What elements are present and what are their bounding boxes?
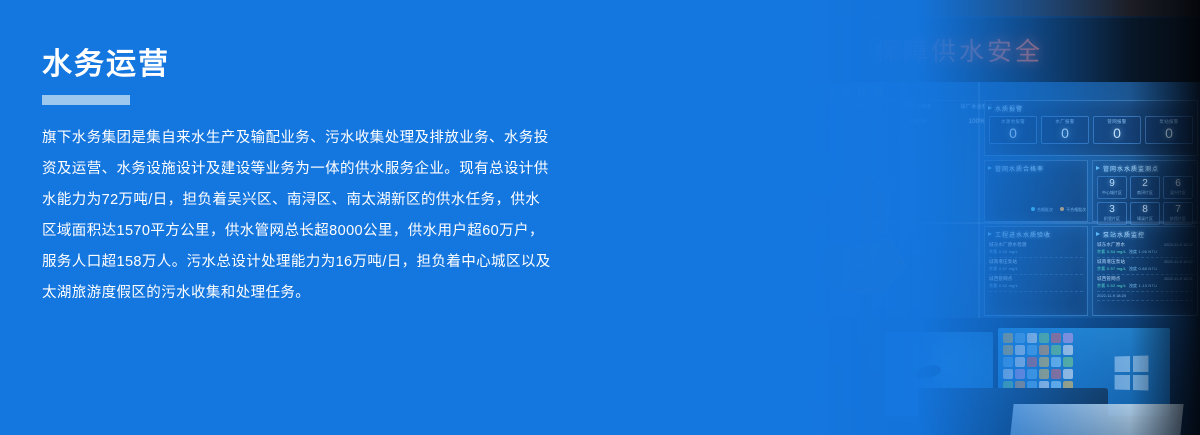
log-row: 城西管网点 余氯 0.52 mg/L (989, 275, 1083, 292)
map-label: 吴兴区 (722, 181, 734, 187)
district-map: 吴兴区 度假区 安吉县 南浔区 开发区 (590, 126, 920, 316)
kpi-item: 历史用水量（吨） (830, 104, 889, 116)
site-cell: 9 中心城片区 (1097, 176, 1127, 199)
map-label: 南浔区 (846, 209, 858, 215)
right-vignette (1130, 0, 1200, 435)
dashboard-title: 水质管理监控场景 (660, 84, 990, 100)
kpi-item: 今日制水量（吨） (655, 104, 714, 116)
slogan-left: 落实安全责任 (595, 32, 763, 68)
intake-log-list: 城东水厂原水检测 余氯 0.54 mg/L 城南增压泵站 余氯 0.57 mg/… (985, 239, 1087, 294)
panel-title: 工程进水水质验收 (985, 227, 1087, 239)
district-map-svg: 吴兴区 度假区 安吉县 南浔区 开发区 (590, 126, 920, 316)
kpi-value: 100% (889, 117, 948, 127)
panel-intake-acceptance: 工程进水水质验收 城东水厂原水检测 余氯 0.54 mg/L 城南增压泵站 余氯… (984, 226, 1088, 316)
body-paragraph: 旗下水务集团是集自来水生产及输配业务、污水收集处理及排放业务、水务投资及运营、水… (42, 123, 552, 309)
log-name: 城南增压泵站 (1097, 259, 1125, 265)
dashboard-title-underline (650, 100, 1000, 101)
kpi-item: 累计供水量（吨） (713, 104, 772, 116)
rate-legend: 合格批次 不合格批次 (1025, 207, 1086, 213)
page-title: 水务运营 (42, 48, 600, 81)
log-time: 2022-11-9 18:20 (1097, 293, 1126, 298)
alarm-card: 水厂报警 0 (1041, 116, 1089, 144)
text-column: 水务运营 旗下水务集团是集自来水生产及输配业务、污水收集处理及排放业务、水务投资… (0, 0, 600, 435)
log-name: 城东水厂原水 (1097, 242, 1125, 248)
kpi-label: 累计供水量（吨） (723, 104, 762, 109)
map-pin (602, 254, 613, 265)
led-slogan-bar: 落实安全责任 保障供水安全 (500, 18, 1200, 84)
log-row: 城东水厂原水检测 余氯 0.54 mg/L (989, 241, 1083, 258)
operator-desk (500, 318, 1200, 435)
site-value: 9 (1098, 179, 1126, 189)
panel-title: 管网水质合格率 (985, 161, 1087, 173)
diver-silhouette (914, 363, 942, 381)
log-metric: 余氯 0.54 mg/L (1097, 249, 1126, 254)
kpi-item: 今日用水量（吨） (772, 104, 831, 116)
alarm-card: 水源地报警 0 (989, 116, 1037, 144)
kpi-item: 今日供水量（吨） (596, 104, 655, 116)
site-label: 织里片区 (1098, 216, 1126, 222)
log-name: 城南增压泵站 (989, 259, 1017, 265)
panel-network-quality-rate: 管网水质合格率 合格批次 不合格批次 (984, 160, 1088, 222)
map-label: 安吉县 (766, 253, 778, 259)
water-bottle (604, 414, 612, 435)
alarm-value: 0 (1042, 126, 1088, 140)
chair-back (710, 402, 830, 435)
map-label: 度假区 (688, 261, 700, 267)
control-room-photo: 落实安全责任 保障供水安全 水质管理监控场景 今日供水量（吨） 今日制水量（吨）… (500, 0, 1200, 435)
video-wall: 水质管理监控场景 今日供水量（吨） 今日制水量（吨） 累计供水量（吨） 今日用水… (500, 82, 1200, 322)
water-operations-banner: 落实安全责任 保障供水安全 水质管理监控场景 今日供水量（吨） 今日制水量（吨）… (0, 0, 1200, 435)
document-preview (740, 348, 782, 404)
map-label: 开发区 (852, 261, 864, 267)
title-underline-bar (42, 95, 130, 105)
legend-label: 不合格批次 (1066, 207, 1086, 212)
log-metric: 余氯 0.57 mg/L (989, 266, 1018, 271)
slogan-right: 保障供水安全 (875, 32, 1043, 68)
kpi-label: 今日制水量（吨） (664, 104, 703, 109)
kpi-label: 今日供水量（吨） (606, 104, 645, 109)
kpi-label: 历史用水量（吨） (840, 104, 879, 109)
map-pin (698, 134, 709, 145)
log-metric: 余氯 0.54 mg/L (989, 249, 1018, 254)
log-metric: 余氯 0.57 mg/L (1097, 266, 1126, 271)
log-metric: 余氯 0.52 mg/L (989, 283, 1018, 288)
folder-icon (700, 372, 722, 390)
log-name: 城西管网点 (1097, 276, 1121, 282)
log-row: 城南增压泵站 余氯 0.57 mg/L (989, 258, 1083, 275)
log-name: 城东水厂原水检测 (989, 242, 1027, 248)
log-metric: 余氯 0.52 mg/L (1097, 283, 1126, 288)
legend-label: 合格批次 (1037, 207, 1053, 212)
site-label: 中心城片区 (1098, 190, 1126, 196)
site-value: 3 (1098, 205, 1126, 215)
kpi-label: 今日用水量（吨） (781, 104, 820, 109)
kpi-label: 原水合格率 (905, 104, 932, 110)
alarm-value: 0 (990, 126, 1036, 140)
kpi-item: 原水合格率 100% (889, 104, 948, 126)
site-cell: 3 织里片区 (1097, 202, 1127, 225)
log-name: 城西管网点 (989, 276, 1013, 282)
